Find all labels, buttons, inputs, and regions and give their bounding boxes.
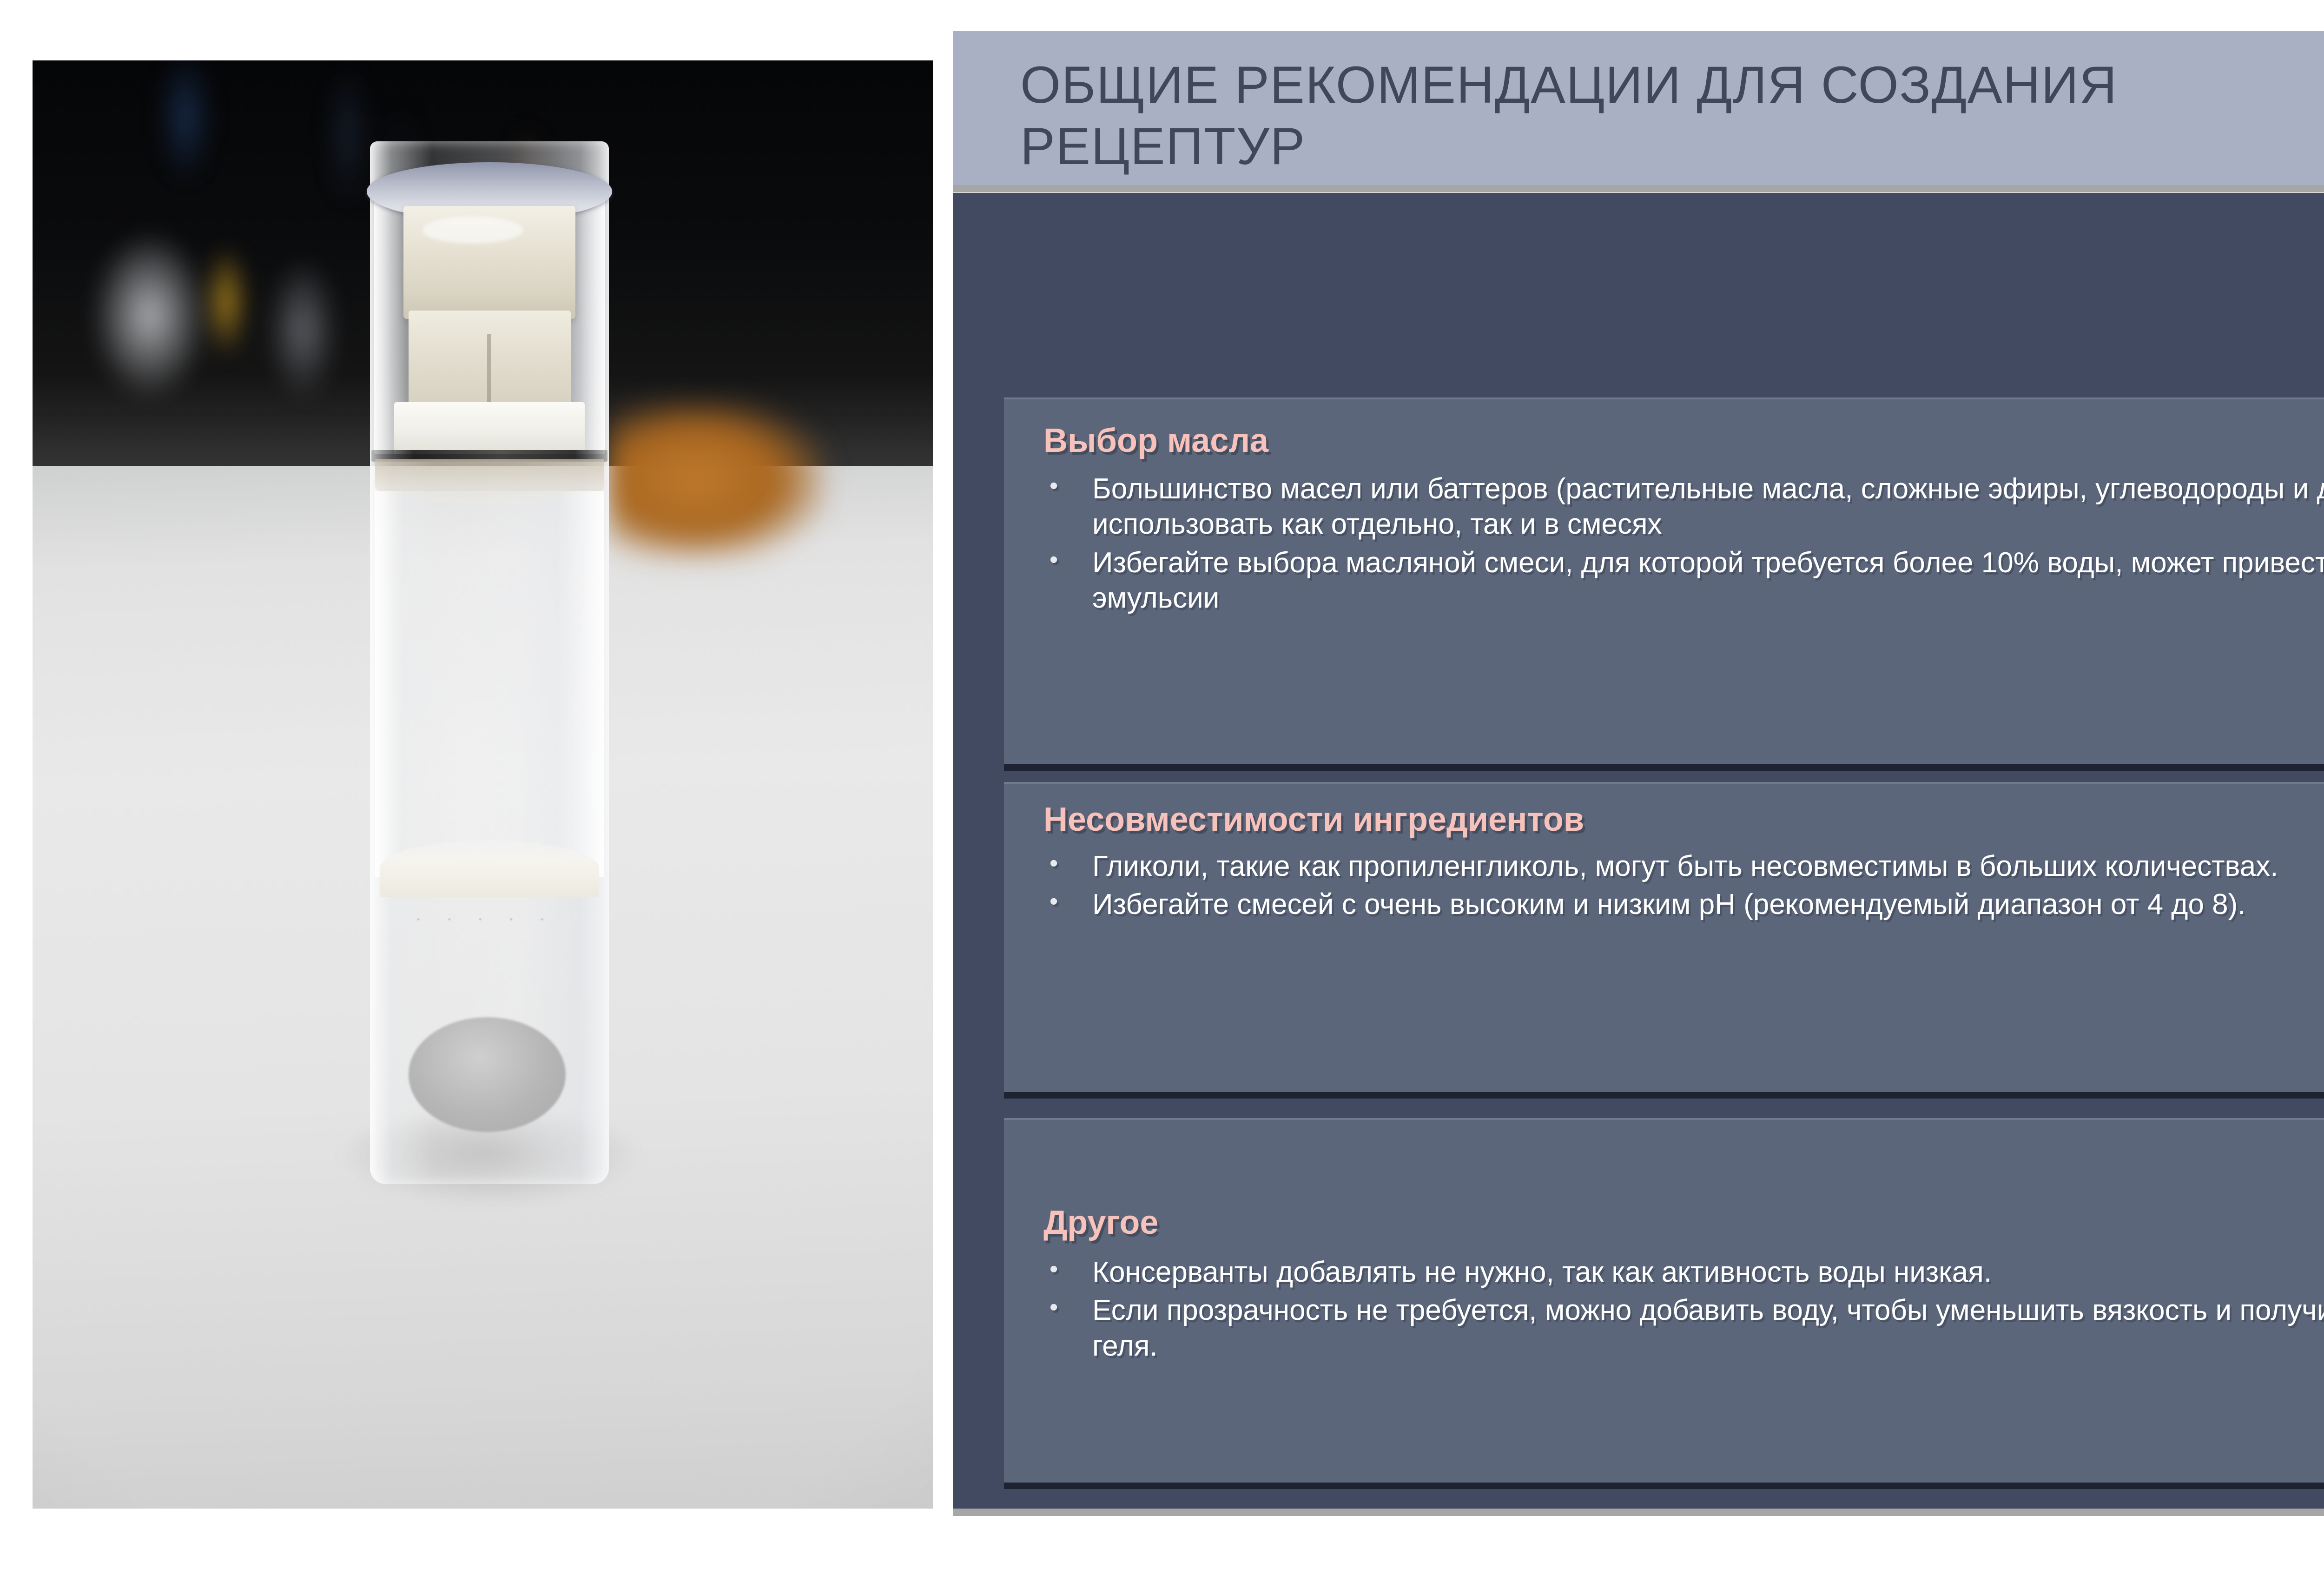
page-title: ОБЩИЕ РЕКОМЕНДАЦИИ ДЛЯ СОЗДАНИЯ РЕЦЕПТУР: [1020, 54, 2324, 177]
content-box-other: Другое Консерванты добавлять не нужно, т…: [1004, 1118, 2324, 1483]
box-heading: Другое: [1043, 1204, 1158, 1242]
photo-vignette: [33, 60, 933, 1509]
product-photo: [33, 60, 933, 1509]
list-item: Избегайте смесей с очень высоким и низки…: [1032, 887, 2324, 922]
list-item: Избегайте выбора масляной смеси, для кот…: [1032, 545, 2324, 616]
bullet-list: Консерванты добавлять не нужно, так как …: [1032, 1255, 2324, 1367]
bullet-list: Гликоли, такие как пропиленгликоль, могу…: [1032, 849, 2324, 926]
content-box-oil-choice: Выбор масла Большинство масел или баттер…: [1004, 397, 2324, 764]
list-item: Консерванты добавлять не нужно, так как …: [1032, 1255, 2324, 1290]
content-panel: Выбор масла Большинство масел или баттер…: [953, 193, 2324, 1509]
list-item: Если прозрачность не требуется, можно до…: [1032, 1293, 2324, 1364]
box-heading: Выбор масла: [1043, 422, 1268, 460]
box-heading: Несовместимости ингредиентов: [1043, 801, 1584, 839]
slide-title-bar: ОБЩИЕ РЕКОМЕНДАЦИИ ДЛЯ СОЗДАНИЯ РЕЦЕПТУР: [953, 31, 2324, 185]
bullet-list: Большинство масел или баттеров (растител…: [1032, 471, 2324, 619]
list-item: Гликоли, такие как пропиленгликоль, могу…: [1032, 849, 2324, 884]
content-box-incompatibilities: Несовместимости ингредиентов Гликоли, та…: [1004, 782, 2324, 1092]
list-item: Большинство масел или баттеров (растител…: [1032, 471, 2324, 543]
